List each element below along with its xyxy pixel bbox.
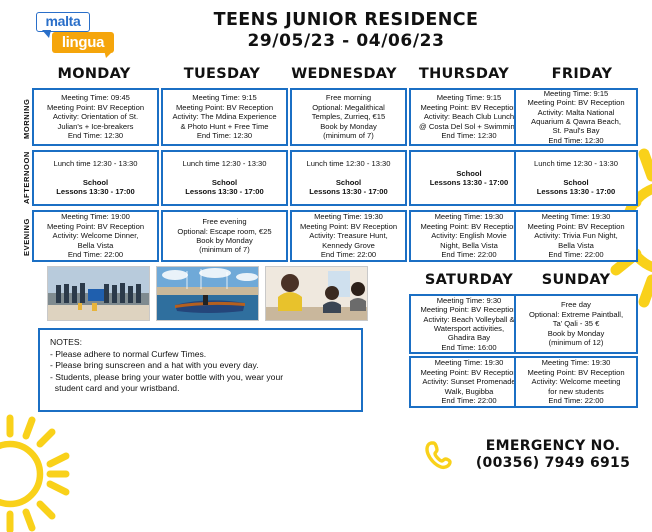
photo-traditional-boat-in-harbour (156, 266, 259, 321)
cell-afternoon-wednesday: Lunch time 12:30 - 13:30 School Lessons … (290, 150, 407, 206)
notes-item: - Please bring sunscreen and a hat with … (50, 360, 351, 372)
maltalingua-logo: malta lingua (32, 12, 118, 54)
lessons-time: Lessons 13:30 - 17:00 (430, 178, 509, 187)
cell-afternoon-friday: Lunch time 12:30 - 13:30 School Lessons … (514, 150, 638, 206)
notes-box: NOTES: - Please adhere to normal Curfew … (38, 328, 363, 412)
cell-text: Meeting Time: 19:30Meeting Point: BV Rec… (518, 358, 634, 405)
photo-students-group-on-beach (47, 266, 150, 321)
emergency-label: EMERGENCY NO. (455, 438, 651, 455)
school-label: School (336, 178, 361, 187)
day-header-thursday: THURSDAY (400, 66, 528, 82)
notes-item: student card and your wristband. (50, 383, 351, 395)
cell-evening-saturday: Meeting Time: 19:30Meeting Point: BV Rec… (409, 356, 529, 408)
cell-text: Meeting Time: 19:30Meeting Point: BV Rec… (413, 358, 525, 405)
cell-text: Meeting Time: 9:15Meeting Point: BV Rece… (413, 93, 525, 140)
cell-evening-sunday: Meeting Time: 19:30Meeting Point: BV Rec… (514, 356, 638, 408)
cell-morning-tuesday: Meeting Time: 9:15Meeting Point: BV Rece… (161, 88, 288, 146)
cell-morning-wednesday: Free morningOptional: MegalithicalTemple… (290, 88, 407, 146)
cell-evening-wednesday: Meeting Time: 19:30Meeting Point: BV Rec… (290, 210, 407, 262)
row-label-morning: MORNING (22, 92, 31, 146)
cell-day-sunday: Free dayOptional: Extreme Paintball,Ta' … (514, 294, 638, 354)
cell-text: Meeting Time: 19:30Meeting Point: BV Rec… (294, 212, 403, 259)
cell-morning-friday: Meeting Time: 9:15Meeting Point: BV Rece… (514, 88, 638, 146)
lessons-time: Lessons 13:30 - 17:00 (56, 187, 135, 196)
lunch-time: Lunch time 12:30 - 13:30 (534, 159, 618, 168)
cell-evening-monday: Meeting Time: 19:00Meeting Point: BV Rec… (32, 210, 159, 262)
lessons-time: Lessons 13:30 - 17:00 (537, 187, 616, 196)
cell-morning-thursday: Meeting Time: 9:15Meeting Point: BV Rece… (409, 88, 529, 146)
title-block: TEENS JUNIOR RESIDENCE 29/05/23 - 04/06/… (196, 10, 496, 52)
cell-text: Free eveningOptional: Escape room, €25Bo… (165, 217, 284, 255)
day-header-saturday: SATURDAY (409, 272, 529, 288)
notes-item: - Please adhere to normal Curfew Times. (50, 349, 351, 361)
school-label: School (212, 178, 237, 187)
cell-text: Meeting Time: 9:15Meeting Point: BV Rece… (518, 89, 634, 145)
cell-text: Free morningOptional: MegalithicalTemple… (294, 93, 403, 140)
emergency-contact: EMERGENCY NO. (00356) 7949 6915 (455, 438, 651, 472)
day-header-tuesday: TUESDAY (158, 66, 286, 82)
emergency-number: (00356) 7949 6915 (455, 455, 651, 472)
phone-icon (424, 440, 454, 470)
lessons-time: Lessons 13:30 - 17:00 (185, 187, 264, 196)
photo-students-in-classroom (265, 266, 368, 321)
lunch-time: Lunch time 12:30 - 13:30 (306, 159, 390, 168)
page-title: TEENS JUNIOR RESIDENCE (196, 10, 496, 31)
cell-text: Meeting Time: 19:30Meeting Point: BV Rec… (413, 212, 525, 259)
lessons-time: Lessons 13:30 - 17:00 (309, 187, 388, 196)
cell-text: Meeting Time: 19:00Meeting Point: BV Rec… (36, 212, 155, 259)
cell-evening-thursday: Meeting Time: 19:30Meeting Point: BV Rec… (409, 210, 529, 262)
day-header-friday: FRIDAY (518, 66, 646, 82)
cell-text: Meeting Time: 09:45Meeting Point: BV Rec… (36, 93, 155, 140)
sun-decoration-bottom-left (0, 412, 106, 532)
date-range: 29/05/23 - 04/06/23 (196, 31, 496, 52)
cell-text: Meeting Time: 19:30Meeting Point: BV Rec… (518, 212, 634, 259)
day-header-sunday: SUNDAY (514, 272, 638, 288)
cell-evening-tuesday: Free eveningOptional: Escape room, €25Bo… (161, 210, 288, 262)
weekday-header-row: MONDAY TUESDAY WEDNESDAY THURSDAY FRIDAY (30, 66, 645, 86)
school-label: School (83, 178, 108, 187)
row-label-afternoon: AFTERNOON (22, 150, 31, 206)
school-label: School (456, 169, 481, 178)
notes-heading: NOTES: (50, 337, 351, 349)
cell-afternoon-monday: Lunch time 12:30 - 13:30 School Lessons … (32, 150, 159, 206)
cell-text: Free dayOptional: Extreme Paintball,Ta' … (518, 300, 634, 347)
cell-text: Meeting Time: 9:15Meeting Point: BV Rece… (165, 93, 284, 140)
cell-text: Meeting Time: 9:30Meeting Point: BV Rece… (413, 296, 525, 352)
cell-morning-monday: Meeting Time: 09:45Meeting Point: BV Rec… (32, 88, 159, 146)
lunch-time: Lunch time 12:30 - 13:30 (182, 159, 266, 168)
cell-evening-friday: Meeting Time: 19:30Meeting Point: BV Rec… (514, 210, 638, 262)
logo-speech-tail-blue (42, 30, 51, 38)
page-header: malta lingua TEENS JUNIOR RESIDENCE 29/0… (0, 0, 652, 62)
logo-speech-tail-orange (104, 50, 114, 58)
cell-afternoon-tuesday: Lunch time 12:30 - 13:30 School Lessons … (161, 150, 288, 206)
school-label: School (563, 178, 588, 187)
lunch-time: Lunch time 12:30 - 13:30 (53, 159, 137, 168)
notes-item: - Students, please bring your water bott… (50, 372, 351, 384)
logo-malta-text: malta (36, 12, 90, 32)
cell-afternoon-thursday: School Lessons 13:30 - 17:00 (409, 150, 529, 206)
row-label-evening: EVENING (22, 212, 31, 262)
cell-day-saturday: Meeting Time: 9:30Meeting Point: BV Rece… (409, 294, 529, 354)
day-header-monday: MONDAY (30, 66, 158, 82)
day-header-wednesday: WEDNESDAY (280, 66, 408, 82)
